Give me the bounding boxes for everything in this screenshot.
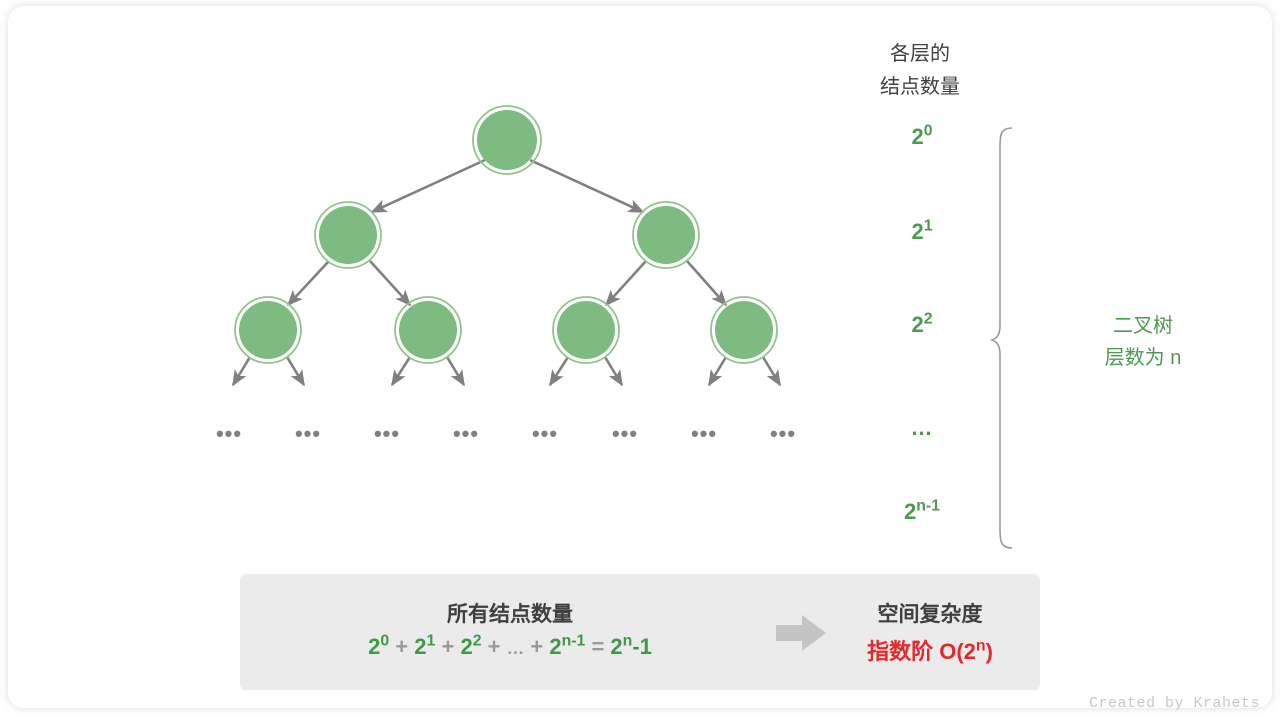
level-count-1-base: 2: [911, 219, 923, 244]
diagram-canvas: 各层的 结点数量 20 21 22 … 2n-1 二叉树 层数为 n ••• •…: [0, 0, 1280, 720]
summary-left-title: 所有结点数量: [240, 598, 780, 628]
level-count-0-base: 2: [911, 124, 923, 149]
level-count-ellipsis: …: [862, 415, 982, 441]
level-count-2-base: 2: [911, 312, 923, 337]
summary-panel: 所有结点数量 20 + 21 + 22 + … + 2n-1 = 2n-1 空间…: [240, 574, 1040, 690]
formula-term-3: 2n-1: [549, 634, 585, 659]
summary-formula: 20 + 21 + 22 + … + 2n-1 = 2n-1: [240, 634, 780, 660]
formula-plus-4: +: [530, 634, 543, 659]
summary-complexity: 指数阶 O(2n): [820, 634, 1040, 666]
formula-plus-3: +: [488, 634, 501, 659]
leaf-dots-3: •••: [367, 421, 407, 447]
formula-term-0: 20: [368, 634, 389, 659]
level-count-last-base: 2: [904, 499, 916, 524]
complexity-prefix: 指数阶: [867, 639, 933, 664]
level-count-1: 21: [862, 219, 982, 245]
leaf-dots-7: •••: [684, 421, 724, 447]
column-header-line1: 各层的: [820, 37, 1020, 66]
complexity-expr: O(2n): [939, 639, 993, 664]
level-count-2: 22: [862, 312, 982, 338]
tree-nodes: [235, 106, 777, 363]
level-count-0: 20: [862, 124, 982, 150]
leaf-dots-5: •••: [525, 421, 565, 447]
brace-note-line1: 二叉树: [1028, 310, 1258, 342]
formula-term-1: 21: [414, 634, 435, 659]
formula-result: 2n-1: [610, 634, 651, 659]
formula-term-2: 22: [460, 634, 481, 659]
leaf-dots-8: •••: [763, 421, 803, 447]
level-count-last: 2n-1: [862, 499, 982, 525]
summary-right-title: 空间复杂度: [820, 598, 1040, 628]
levels-brace: [992, 128, 1012, 548]
column-header-line2: 结点数量: [820, 70, 1020, 99]
leaf-dots-4: •••: [446, 421, 486, 447]
formula-plus-2: +: [441, 634, 454, 659]
brace-note-line2: 层数为 n: [1028, 342, 1258, 374]
level-count-last-exp: n-1: [916, 498, 940, 515]
formula-equals: =: [591, 634, 604, 659]
tree-edges: [233, 160, 780, 385]
level-count-2-exp: 2: [924, 311, 933, 328]
watermark: Created by Krahets: [1089, 695, 1260, 712]
level-count-0-exp: 0: [924, 123, 933, 140]
formula-plus-1: +: [395, 634, 408, 659]
leaf-dots-6: •••: [605, 421, 645, 447]
leaf-dots-2: •••: [288, 421, 328, 447]
level-count-1-exp: 1: [924, 218, 933, 235]
formula-ellipsis: …: [507, 638, 525, 658]
leaf-dots-1: •••: [209, 421, 249, 447]
